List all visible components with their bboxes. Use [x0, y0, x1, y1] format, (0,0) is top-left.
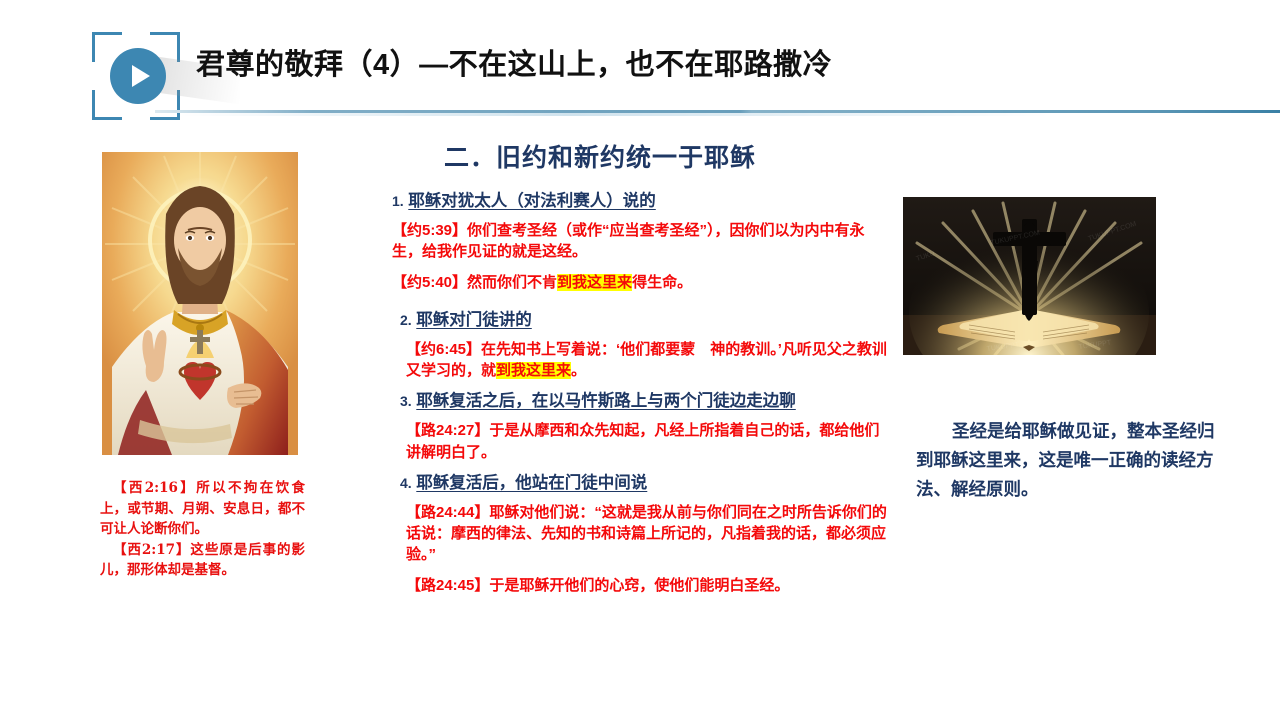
play-triangle-icon [132, 65, 150, 87]
cross-and-bible-image: TUKU TUKUPPT.COM TUKUPPT.COM TUKUPPT TUK… [903, 197, 1156, 355]
play-icon[interactable] [110, 48, 166, 104]
verse-john-5-40: 【约5:40】然而你们不肯到我这里来得生命。 [392, 272, 892, 293]
verse-luke-24-45: 【路24:45】于是耶稣开他们的心窍，使他们能明白圣经。 [406, 575, 892, 596]
point-1-heading: 1. 耶稣对犹太人（对法利赛人）说的 [392, 190, 892, 214]
verse-ref: 【约5:39】 [392, 222, 467, 239]
point-4-number: 4. [400, 475, 412, 491]
verse-ref: 【路24:45】 [406, 577, 489, 594]
point-1-number: 1. [392, 193, 404, 209]
point-2-number: 2. [400, 312, 412, 328]
verse-highlight: 到我这里来 [557, 274, 632, 291]
verse-ref: 【约5:40】 [392, 274, 467, 291]
sacred-heart-jesus-image [102, 152, 298, 455]
point-3-title: 耶稣复活之后，在以马忤斯路上与两个门徒边走边聊 [416, 392, 796, 410]
verse-john-6-45: 【约6:45】在先知书上写着说：‘他们都要蒙 神的教训。’凡听见父之教训又学习的… [406, 339, 892, 382]
left-caption: 【西2:16】所以不拘在饮食上，或节期、月朔、安息日，都不可让人论断你们。 【西… [100, 478, 305, 581]
left-caption-line-1: 【西2:16】所以不拘在饮食上，或节期、月朔、安息日，都不可让人论断你们。 [100, 478, 305, 540]
right-summary-note: 圣经是给耶稣做见证，整本圣经归到耶稣这里来，这是唯一正确的读经方法、解经原则。 [916, 418, 1216, 505]
point-2-heading: 2. 耶稣对门徒讲的 [400, 309, 892, 333]
verse-text-after: 。 [571, 362, 586, 379]
content-body: 1. 耶稣对犹太人（对法利赛人）说的 【约5:39】你们查考圣经（或作“应当查考… [392, 190, 892, 605]
slide-header: 君尊的敬拜（4）—不在这山上，也不在耶路撒冷 [0, 0, 1280, 125]
section-heading: 二．旧约和新约统一于耶稣 [390, 138, 810, 174]
header-divider-highlight [180, 113, 1050, 116]
verse-luke-24-44: 【路24:44】耶稣对他们说：“这就是我从前与你们同在之时所告诉你们的话说：摩西… [406, 502, 892, 566]
verse-text: 于是耶稣开他们的心窍，使他们能明白圣经。 [489, 577, 789, 594]
point-4-title: 耶稣复活后，他站在门徒中间说 [416, 474, 647, 492]
point-4-heading: 4. 耶稣复活后，他站在门徒中间说 [400, 472, 892, 496]
verse-john-5-39: 【约5:39】你们查考圣经（或作“应当查考圣经”），因你们以为内中有永生，给我作… [392, 220, 892, 263]
left-caption-line-2: 【西2:17】这些原是后事的影儿，那形体却是基督。 [100, 540, 305, 581]
point-3-heading: 3. 耶稣复活之后，在以马忤斯路上与两个门徒边走边聊 [400, 390, 892, 414]
verse-highlight: 到我这里来 [496, 362, 571, 379]
verse-ref: 【路24:27】 [406, 422, 489, 439]
point-1-title: 耶稣对犹太人（对法利赛人）说的 [408, 192, 656, 210]
verse-ref: 【路24:44】 [406, 504, 489, 521]
verse-ref: 【约6:45】 [406, 341, 481, 358]
verse-text-before: 然而你们不肯 [467, 274, 557, 291]
verse-text-after: 得生命。 [632, 274, 692, 291]
point-3-number: 3. [400, 393, 412, 409]
verse-luke-24-27: 【路24:27】于是从摩西和众先知起，凡经上所指着自己的话，都给他们讲解明白了。 [406, 420, 892, 463]
point-2-title: 耶稣对门徒讲的 [416, 311, 532, 329]
page-title: 君尊的敬拜（4）—不在这山上，也不在耶路撒冷 [196, 41, 832, 83]
